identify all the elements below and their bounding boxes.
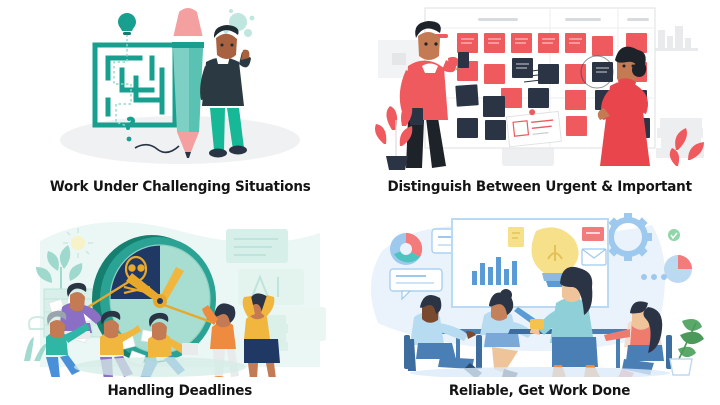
team-meeting-svg <box>360 211 720 377</box>
pie-chart <box>664 255 692 283</box>
shoe-right <box>229 146 247 155</box>
ground-shadow <box>74 357 246 377</box>
idea-bulb-icon <box>118 13 136 44</box>
man-head <box>418 32 440 60</box>
chair-2 <box>476 335 482 369</box>
panel-grid: Work Under Challenging Situations <box>0 0 720 405</box>
note-card-red <box>582 227 604 241</box>
maze-pencil-illustration <box>0 0 360 170</box>
shelf-with-books <box>652 26 698 51</box>
man-collar <box>422 64 438 74</box>
held-card <box>530 319 544 329</box>
man-trousers <box>406 118 424 168</box>
donut-chart <box>390 232 422 264</box>
giant-clock-svg <box>0 211 360 377</box>
maze-pencil-svg <box>0 0 360 170</box>
shoe-left <box>209 149 227 158</box>
illustration-grid-page: Work Under Challenging Situations <box>0 0 720 405</box>
panel-caption: Handling Deadlines <box>108 383 253 399</box>
held-note <box>458 52 469 68</box>
panel-caption: Distinguish Between Urgent & Important <box>388 179 692 195</box>
note-card-yellow <box>508 227 524 247</box>
kanban-board-illustration <box>360 0 720 170</box>
panel-reliable-get-work-done: Reliable, Get Work Done <box>360 203 720 405</box>
hair-bun <box>500 289 512 301</box>
head <box>216 34 237 59</box>
potted-plant <box>670 319 704 375</box>
potted-plant-left <box>375 102 412 170</box>
panel-caption: Work Under Challenging Situations <box>50 179 311 195</box>
check-badge <box>668 229 680 241</box>
panel-work-under-challenging-situations: Work Under Challenging Situations <box>0 0 360 203</box>
team-meeting-illustration <box>360 211 720 377</box>
maze-graphic <box>95 45 175 125</box>
more-dots-icon <box>641 274 667 280</box>
giant-clock-illustration <box>0 211 360 377</box>
panel-handling-deadlines: Handling Deadlines <box>0 203 360 405</box>
envelope-icon <box>582 249 606 265</box>
panel-distinguish-between-urgent-and-important: Distinguish Between Urgent & Important <box>360 0 720 203</box>
thought-bubbles <box>223 9 254 37</box>
kanban-board-svg <box>360 0 720 170</box>
panel-caption: Reliable, Get Work Done <box>449 383 630 399</box>
